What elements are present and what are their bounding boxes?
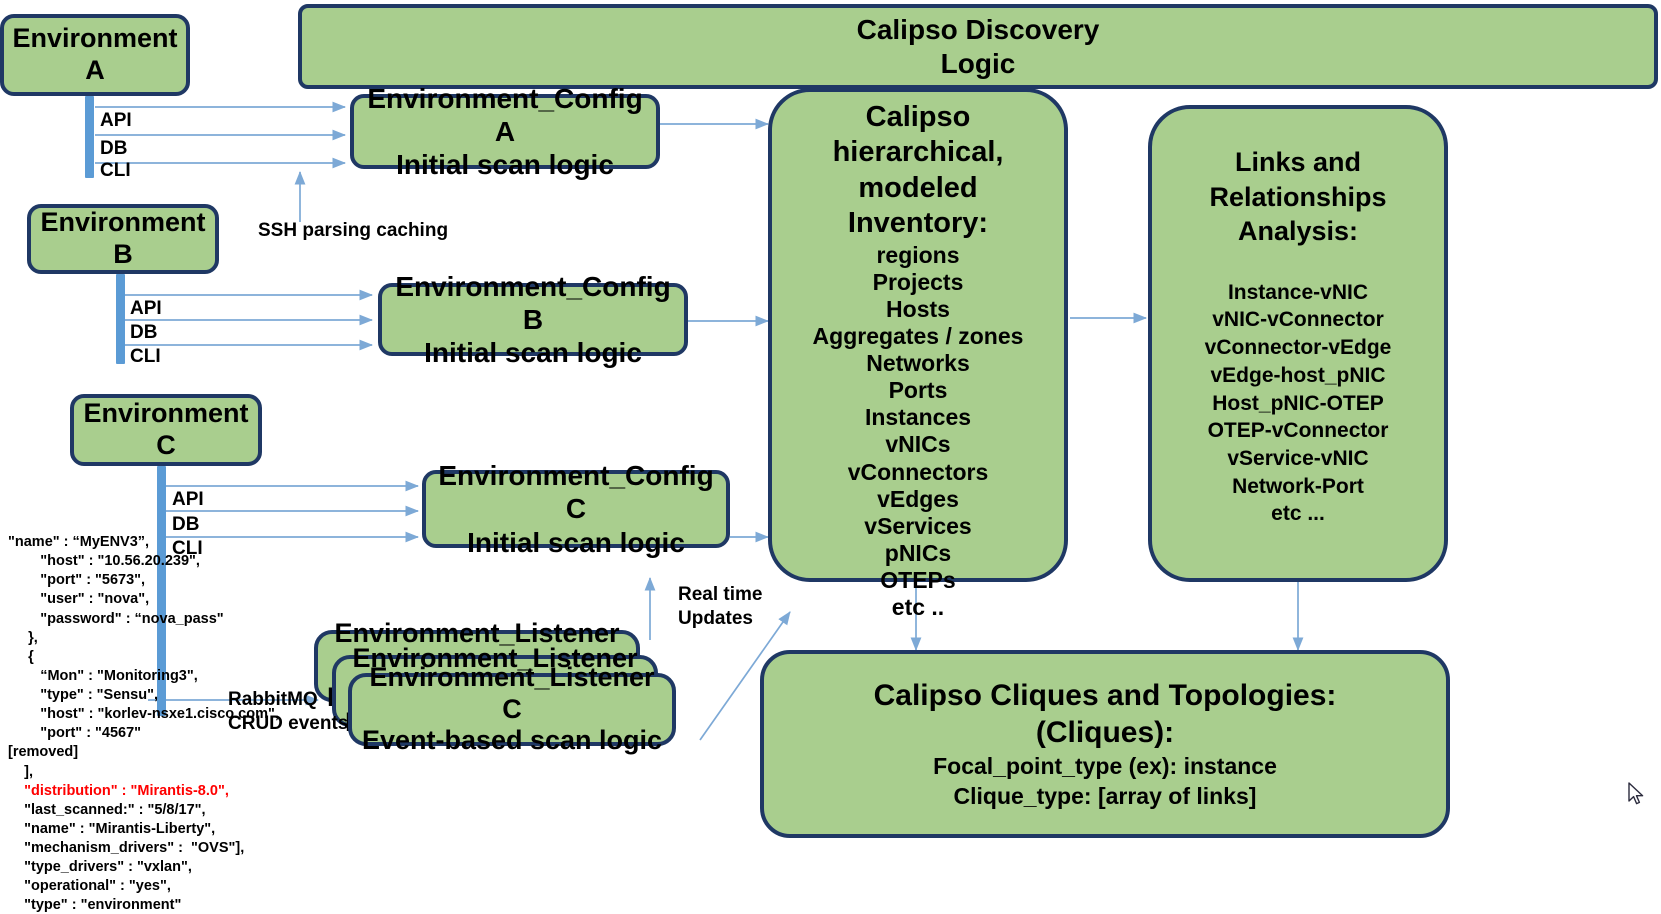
environment-config-c-line1: Environment_Config C bbox=[432, 459, 720, 525]
json-lines-after: "last_scanned:" : "5/8/17", "name" : "Mi… bbox=[8, 802, 244, 914]
environment-c-channel-api: API bbox=[172, 490, 204, 509]
environment-a-box[interactable]: Environment A bbox=[0, 14, 190, 96]
calipso-cliques-topologies-box[interactable]: Calipso Cliques and Topologies: (Cliques… bbox=[760, 650, 1450, 838]
inventory-item: Networks bbox=[778, 350, 1058, 377]
cliques-heading-line2: (Cliques): bbox=[770, 714, 1440, 752]
calipso-inventory-box[interactable]: Calipso hierarchical, modeled Inventory:… bbox=[768, 88, 1068, 582]
inventory-item: Aggregates / zones bbox=[778, 323, 1058, 350]
cliques-item: Focal_point_type (ex): instance bbox=[770, 752, 1440, 782]
cliques-item: Clique_type: [array of links] bbox=[770, 782, 1440, 812]
diagram-canvas: Calipso Discovery Logic Environment A AP… bbox=[0, 0, 1661, 914]
links-spacer bbox=[1158, 249, 1438, 279]
environment-a-channel-cli: CLI bbox=[100, 161, 131, 180]
environment-config-b-line1: Environment_Config B bbox=[388, 270, 678, 336]
environment-b-label-line1: Environment bbox=[37, 207, 209, 239]
environment-b-channel-cli: CLI bbox=[130, 347, 161, 366]
environment-b-channel-api: API bbox=[130, 299, 162, 318]
environment-config-a-line2: Initial scan logic bbox=[360, 148, 650, 181]
environment-b-label-line2: B bbox=[37, 239, 209, 271]
links-item: OTEP-vConnector bbox=[1158, 417, 1438, 445]
environment-c-channel-db: DB bbox=[172, 515, 199, 534]
environment-config-b-line2: Initial scan logic bbox=[388, 336, 678, 369]
inventory-item: pNICs bbox=[778, 540, 1058, 567]
environment-a-label-line1: Environment bbox=[10, 23, 180, 55]
environment-a-bus-bar bbox=[85, 96, 94, 178]
inventory-heading-line2: modeled bbox=[778, 171, 1058, 206]
inventory-item: regions bbox=[778, 242, 1058, 269]
title-line-1: Calipso Discovery bbox=[308, 13, 1648, 46]
inventory-heading-line1: Calipso hierarchical, bbox=[778, 100, 1058, 171]
environment-c-label-line2: C bbox=[80, 430, 252, 462]
environment-listener-c-line1: Environment_Listener C bbox=[358, 662, 666, 726]
environment-a-channel-db: DB bbox=[100, 139, 127, 158]
inventory-item: Projects bbox=[778, 269, 1058, 296]
environment-c-box[interactable]: Environment C bbox=[70, 394, 262, 466]
links-item: Network-Port bbox=[1158, 473, 1438, 501]
environment-b-bus-bar bbox=[116, 274, 125, 364]
inventory-item: etc .. bbox=[778, 594, 1058, 621]
environment-listener-c-line2: Event-based scan logic bbox=[358, 725, 666, 757]
inventory-item: vConnectors bbox=[778, 459, 1058, 486]
inventory-item: vEdges bbox=[778, 486, 1058, 513]
real-time-updates-line1: Real time bbox=[678, 584, 762, 605]
inventory-item: Instances bbox=[778, 404, 1058, 431]
inventory-item: vNICs bbox=[778, 431, 1058, 458]
links-item: etc ... bbox=[1158, 500, 1438, 528]
links-item: Instance-vNIC bbox=[1158, 279, 1438, 307]
links-item: Host_pNIC-OTEP bbox=[1158, 390, 1438, 418]
environment-config-b-box[interactable]: Environment_Config B Initial scan logic bbox=[378, 283, 688, 356]
inventory-item: OTEPs bbox=[778, 567, 1058, 594]
environment-config-a-line1: Environment_Config A bbox=[360, 82, 650, 148]
links-item: vNIC-vConnector bbox=[1158, 306, 1438, 334]
environment-config-c-line2: Initial scan logic bbox=[432, 526, 720, 559]
environment-config-a-box[interactable]: Environment_Config A Initial scan logic bbox=[350, 94, 660, 169]
links-item: vEdge-host_pNIC bbox=[1158, 362, 1438, 390]
links-item: vService-vNIC bbox=[1158, 445, 1438, 473]
links-heading-line3: Analysis: bbox=[1158, 214, 1438, 249]
environment-a-label-line2: A bbox=[10, 55, 180, 87]
rabbitmq-label: RabbitMQ bbox=[228, 690, 318, 709]
environment-c-label-line1: Environment bbox=[80, 398, 252, 430]
links-heading-line1: Links and bbox=[1158, 145, 1438, 180]
environment-b-channel-db: DB bbox=[130, 323, 157, 342]
links-item: vConnector-vEdge bbox=[1158, 334, 1438, 362]
cliques-heading-line1: Calipso Cliques and Topologies: bbox=[770, 677, 1440, 715]
real-time-updates-label: Real time Updates bbox=[678, 583, 762, 632]
environment-a-channel-api: API bbox=[100, 111, 132, 130]
title-line-2: Logic bbox=[308, 47, 1648, 80]
inventory-heading-line3: Inventory: bbox=[778, 206, 1058, 241]
real-time-updates-line2: Updates bbox=[678, 608, 753, 629]
ssh-parsing-caching-label: SSH parsing caching bbox=[258, 221, 448, 240]
json-lines-before: "name" : “MyENV3”, "host" : "10.56.20.23… bbox=[8, 534, 279, 780]
environment-listener-c-box[interactable]: Environment_Listener C Event-based scan … bbox=[348, 673, 676, 746]
environment-config-c-box[interactable]: Environment_Config C Initial scan logic bbox=[422, 470, 730, 548]
json-highlight-line: "distribution" : "Mirantis-8.0", bbox=[8, 783, 229, 799]
inventory-item: Hosts bbox=[778, 296, 1058, 323]
inventory-item: Ports bbox=[778, 377, 1058, 404]
title-box-calipso-discovery-logic: Calipso Discovery Logic bbox=[298, 4, 1658, 89]
crud-events-label: CRUD events bbox=[228, 714, 348, 733]
links-relationships-box[interactable]: Links and Relationships Analysis: Instan… bbox=[1148, 105, 1448, 582]
inventory-item: vServices bbox=[778, 513, 1058, 540]
links-heading-line2: Relationships bbox=[1158, 180, 1438, 215]
environment-b-box[interactable]: Environment B bbox=[27, 204, 219, 274]
mouse-cursor-icon bbox=[1628, 782, 1648, 808]
